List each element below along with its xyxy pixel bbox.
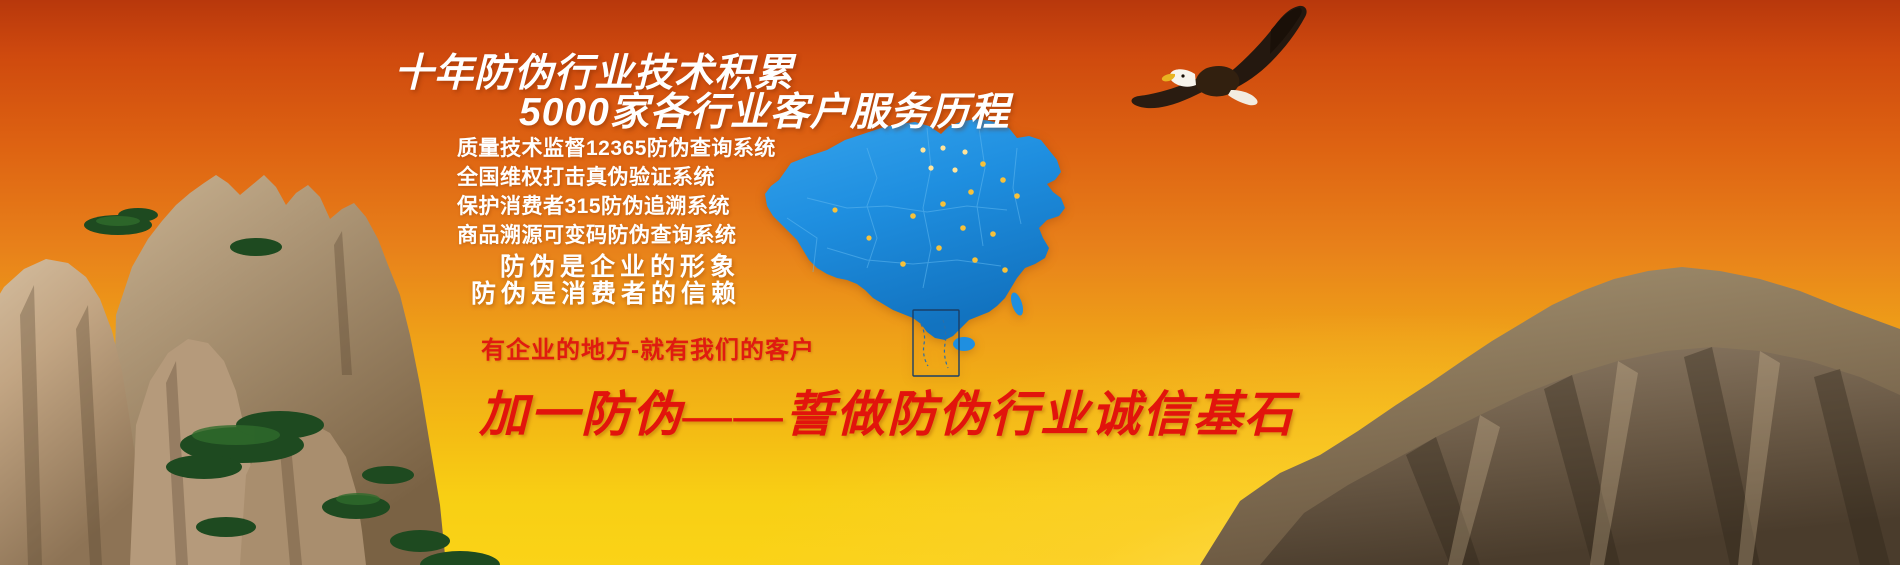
mountain-ridge-right <box>1200 265 1900 565</box>
copy-block: 十年防伪行业技术积累 5000家各行业客户服务历程 质量技术监督12365防伪查… <box>0 0 1200 565</box>
system-line-2: 全国维权打击真伪验证系统 <box>457 161 715 191</box>
slogan-line-2: 防伪是消费者的信赖 <box>471 274 741 310</box>
brush-slogan: 加一防伪——誓做防伪行业诚信基石 <box>479 375 1295 446</box>
system-line-3: 保护消费者315防伪追溯系统 <box>457 190 730 220</box>
headline-line-2: 5000家各行业客户服务历程 <box>519 81 1010 137</box>
system-line-4: 商品溯源可变码防伪查询系统 <box>457 219 737 249</box>
system-line-1: 质量技术监督12365防伪查询系统 <box>457 132 776 162</box>
tagline: 有企业的地方-就有我们的客户 <box>481 330 815 365</box>
promotional-banner: 十年防伪行业技术积累 5000家各行业客户服务历程 质量技术监督12365防伪查… <box>0 0 1900 565</box>
eagle-tail <box>1228 90 1258 105</box>
